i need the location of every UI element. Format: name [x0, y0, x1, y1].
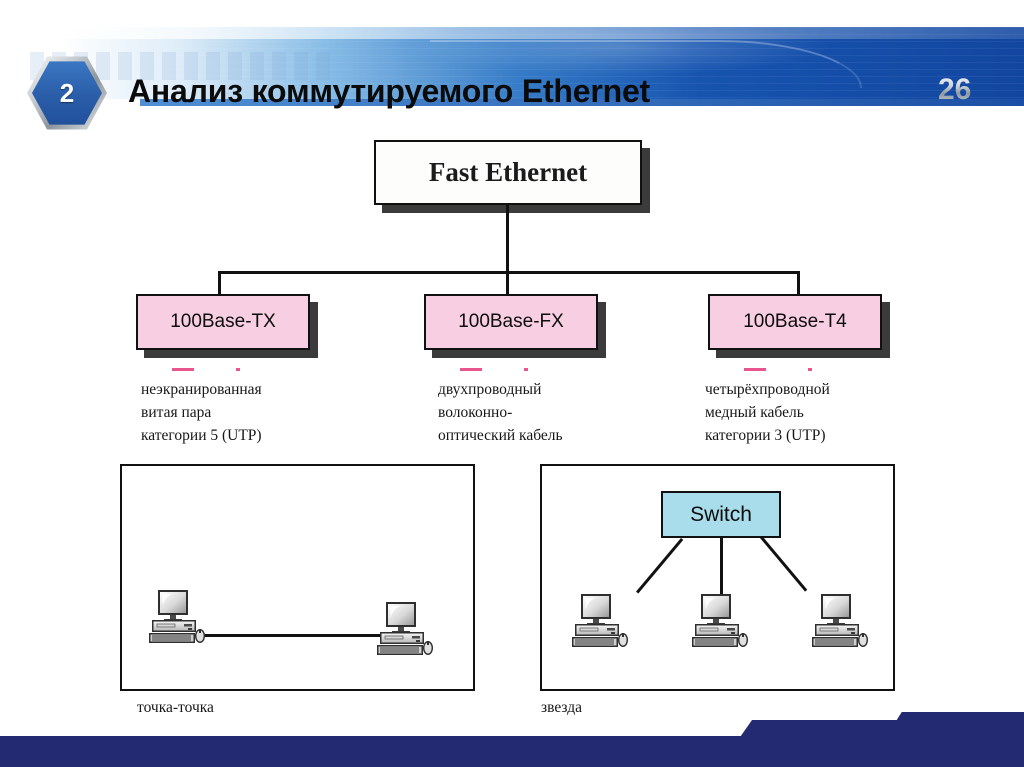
- branch-node-100base-t4: 100Base-T4: [708, 294, 882, 350]
- star-link-2: [720, 538, 723, 595]
- page-title: Анализ коммутируемого Ethernet: [128, 66, 888, 116]
- branch-2-description-line-1: двухпроводный: [438, 378, 648, 401]
- branch-2-dot-mark: [524, 368, 528, 371]
- computer-icon: [146, 588, 210, 646]
- branch-node-2-label: 100Base-FX: [458, 311, 564, 333]
- branch-1-description-line-3: категории 5 (UTP): [141, 424, 351, 447]
- branch-1-dot-mark: [236, 368, 240, 371]
- root-node-fast-ethernet: Fast Ethernet: [374, 140, 642, 205]
- computer-icon: [374, 600, 438, 658]
- branch-node-100base-tx: 100Base-TX: [136, 294, 310, 350]
- topology-caption-point-to-point: точка-точка: [137, 699, 214, 717]
- computer-icon: [689, 592, 753, 650]
- branch-2-description: двухпроводный волоконно- оптический кабе…: [438, 378, 648, 447]
- switch-node: Switch: [661, 491, 781, 538]
- section-badge-number: 2: [60, 78, 74, 109]
- branch-3-description-line-3: категории 3 (UTP): [705, 424, 915, 447]
- connector-branch-3: [797, 271, 800, 296]
- branch-node-1-label: 100Base-TX: [170, 311, 276, 333]
- section-badge-hexagon: 2: [27, 55, 107, 131]
- branch-3-description-line-1: четырёхпроводной: [705, 378, 915, 401]
- header-white-strip: [0, 0, 1024, 30]
- root-node-label: Fast Ethernet: [429, 157, 587, 188]
- page-number: 26: [938, 68, 1008, 112]
- branch-1-dash-mark: [172, 368, 194, 371]
- computer-icon: [809, 592, 873, 650]
- footer-band: [0, 736, 1024, 767]
- computer-icon: [569, 592, 633, 650]
- branch-node-3-label: 100Base-T4: [743, 311, 847, 333]
- connector-branch-2: [506, 271, 509, 296]
- branch-3-description-line-2: медный кабель: [705, 401, 915, 424]
- branch-1-description-line-2: витая пара: [141, 401, 351, 424]
- connector-root-vertical: [506, 205, 509, 273]
- branch-2-dash-mark: [460, 368, 482, 371]
- switch-node-label: Switch: [690, 503, 752, 527]
- connector-horizontal-bus: [218, 271, 800, 274]
- point-to-point-cable: [205, 634, 382, 637]
- slide: 2 Анализ коммутируемого Ethernet 26 Fast…: [0, 0, 1024, 767]
- branch-1-description-line-1: неэкранированная: [141, 378, 351, 401]
- branch-1-description: неэкранированная витая пара категории 5 …: [141, 378, 351, 447]
- branch-3-dash-mark: [744, 368, 766, 371]
- branch-2-description-line-2: волоконно-: [438, 401, 648, 424]
- connector-branch-1: [218, 271, 221, 296]
- branch-3-dot-mark: [808, 368, 812, 371]
- branch-3-description: четырёхпроводной медный кабель категории…: [705, 378, 915, 447]
- branch-node-100base-fx: 100Base-FX: [424, 294, 598, 350]
- header-highlight-strip: [0, 27, 1024, 39]
- branch-2-description-line-3: оптический кабель: [438, 424, 648, 447]
- topology-caption-star: звезда: [541, 699, 582, 717]
